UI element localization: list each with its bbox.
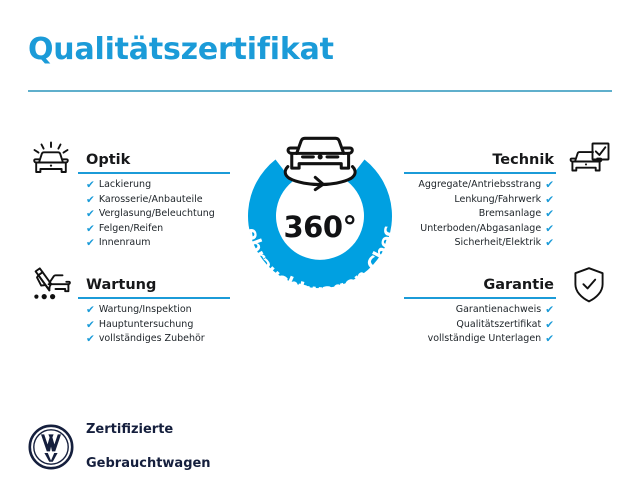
list-item-label: Karosserie/Anbauteile — [99, 193, 203, 208]
shield-check-icon — [566, 265, 612, 305]
section-underline-garantie — [404, 297, 556, 299]
checklist-garantie: Garantienachweis✔ Qualitätszertifikat✔ v… — [428, 303, 554, 347]
logo-wordmark: Zertifizierte Gebrauchtwagen — [86, 404, 211, 489]
title-divider — [28, 90, 612, 92]
check-icon: ✔ — [545, 224, 554, 235]
list-item: Sicherheit/Elektrik✔ — [418, 236, 554, 251]
list-item: ✔Verglasung/Beleuchtung — [86, 207, 215, 222]
certificate-page: Qualitätszertifikat Optik ✔Lackierung ✔ — [0, 0, 640, 480]
section-title-garantie: Garantie — [483, 277, 554, 293]
check-icon: ✔ — [86, 224, 95, 235]
list-item: Unterboden/Abgasanlage✔ — [418, 222, 554, 237]
pen-car-service-icon — [28, 265, 74, 305]
list-item: Garantienachweis✔ — [428, 303, 554, 318]
list-item: Bremsanlage✔ — [418, 207, 554, 222]
logo-line-1: Zertifizierte — [86, 421, 211, 438]
check-icon: ✔ — [86, 334, 95, 345]
check-icon: ✔ — [545, 238, 554, 249]
check-icon: ✔ — [86, 180, 95, 191]
list-item: Qualitätszertifikat✔ — [428, 318, 554, 333]
list-item: vollständige Unterlagen✔ — [428, 332, 554, 347]
list-item: ✔Felgen/Reifen — [86, 222, 215, 237]
list-item: Aggregate/Antriebsstrang✔ — [418, 178, 554, 193]
list-item-label: vollständige Unterlagen — [428, 332, 542, 347]
check-icon: ✔ — [545, 209, 554, 220]
section-title-wartung: Wartung — [86, 277, 156, 293]
check-icon: ✔ — [545, 305, 554, 316]
vw-logo-lockup: Zertifizierte Gebrauchtwagen — [28, 404, 211, 489]
list-item-label: Garantienachweis — [456, 303, 541, 318]
check-icon: ✔ — [86, 320, 95, 331]
car-rotate-360-icon — [285, 138, 355, 189]
badge-360-gebrauchtwagen-check: Gebrauchtwagen-Check 360° — [223, 122, 417, 316]
check-icon: ✔ — [86, 238, 95, 249]
vw-logo-icon — [28, 424, 74, 470]
section-title-optik: Optik — [86, 152, 130, 168]
logo-line-2: Gebrauchtwagen — [86, 455, 211, 472]
list-item-label: Verglasung/Beleuchtung — [99, 207, 215, 222]
list-item: ✔Innenraum — [86, 236, 215, 251]
list-item-label: Felgen/Reifen — [99, 222, 163, 237]
check-icon: ✔ — [545, 334, 554, 345]
check-icon: ✔ — [86, 305, 95, 316]
checklist-wartung: ✔Wartung/Inspektion ✔Hauptuntersuchung ✔… — [86, 303, 205, 347]
check-icon: ✔ — [86, 195, 95, 206]
list-item-label: Qualitätszertifikat — [456, 318, 541, 333]
list-item: ✔Wartung/Inspektion — [86, 303, 205, 318]
checklist-optik: ✔Lackierung ✔Karosserie/Anbauteile ✔Verg… — [86, 178, 215, 251]
list-item: ✔Karosserie/Anbauteile — [86, 193, 215, 208]
section-underline-wartung — [78, 297, 230, 299]
list-item-label: Hauptuntersuchung — [99, 318, 194, 333]
section-title-technik: Technik — [492, 152, 554, 168]
car-checkbox-icon — [566, 140, 612, 180]
check-icon: ✔ — [545, 195, 554, 206]
check-icon: ✔ — [545, 320, 554, 331]
list-item: ✔Lackierung — [86, 178, 215, 193]
car-shine-icon — [28, 140, 74, 180]
check-icon: ✔ — [86, 209, 95, 220]
list-item-label: Bremsanlage — [479, 207, 541, 222]
list-item-label: Wartung/Inspektion — [99, 303, 192, 318]
page-title: Qualitätszertifikat — [28, 32, 334, 67]
badge-center-label: 360° — [223, 210, 417, 244]
check-icon: ✔ — [545, 180, 554, 191]
checklist-technik: Aggregate/Antriebsstrang✔ Lenkung/Fahrwe… — [418, 178, 554, 251]
list-item-label: vollständiges Zubehör — [99, 332, 205, 347]
section-underline-optik — [78, 172, 230, 174]
list-item-label: Unterboden/Abgasanlage — [420, 222, 541, 237]
list-item-label: Lenkung/Fahrwerk — [454, 193, 541, 208]
list-item-label: Sicherheit/Elektrik — [455, 236, 542, 251]
list-item-label: Aggregate/Antriebsstrang — [418, 178, 541, 193]
list-item: ✔vollständiges Zubehör — [86, 332, 205, 347]
section-underline-technik — [404, 172, 556, 174]
list-item-label: Lackierung — [99, 178, 151, 193]
list-item: Lenkung/Fahrwerk✔ — [418, 193, 554, 208]
list-item: ✔Hauptuntersuchung — [86, 318, 205, 333]
list-item-label: Innenraum — [99, 236, 151, 251]
